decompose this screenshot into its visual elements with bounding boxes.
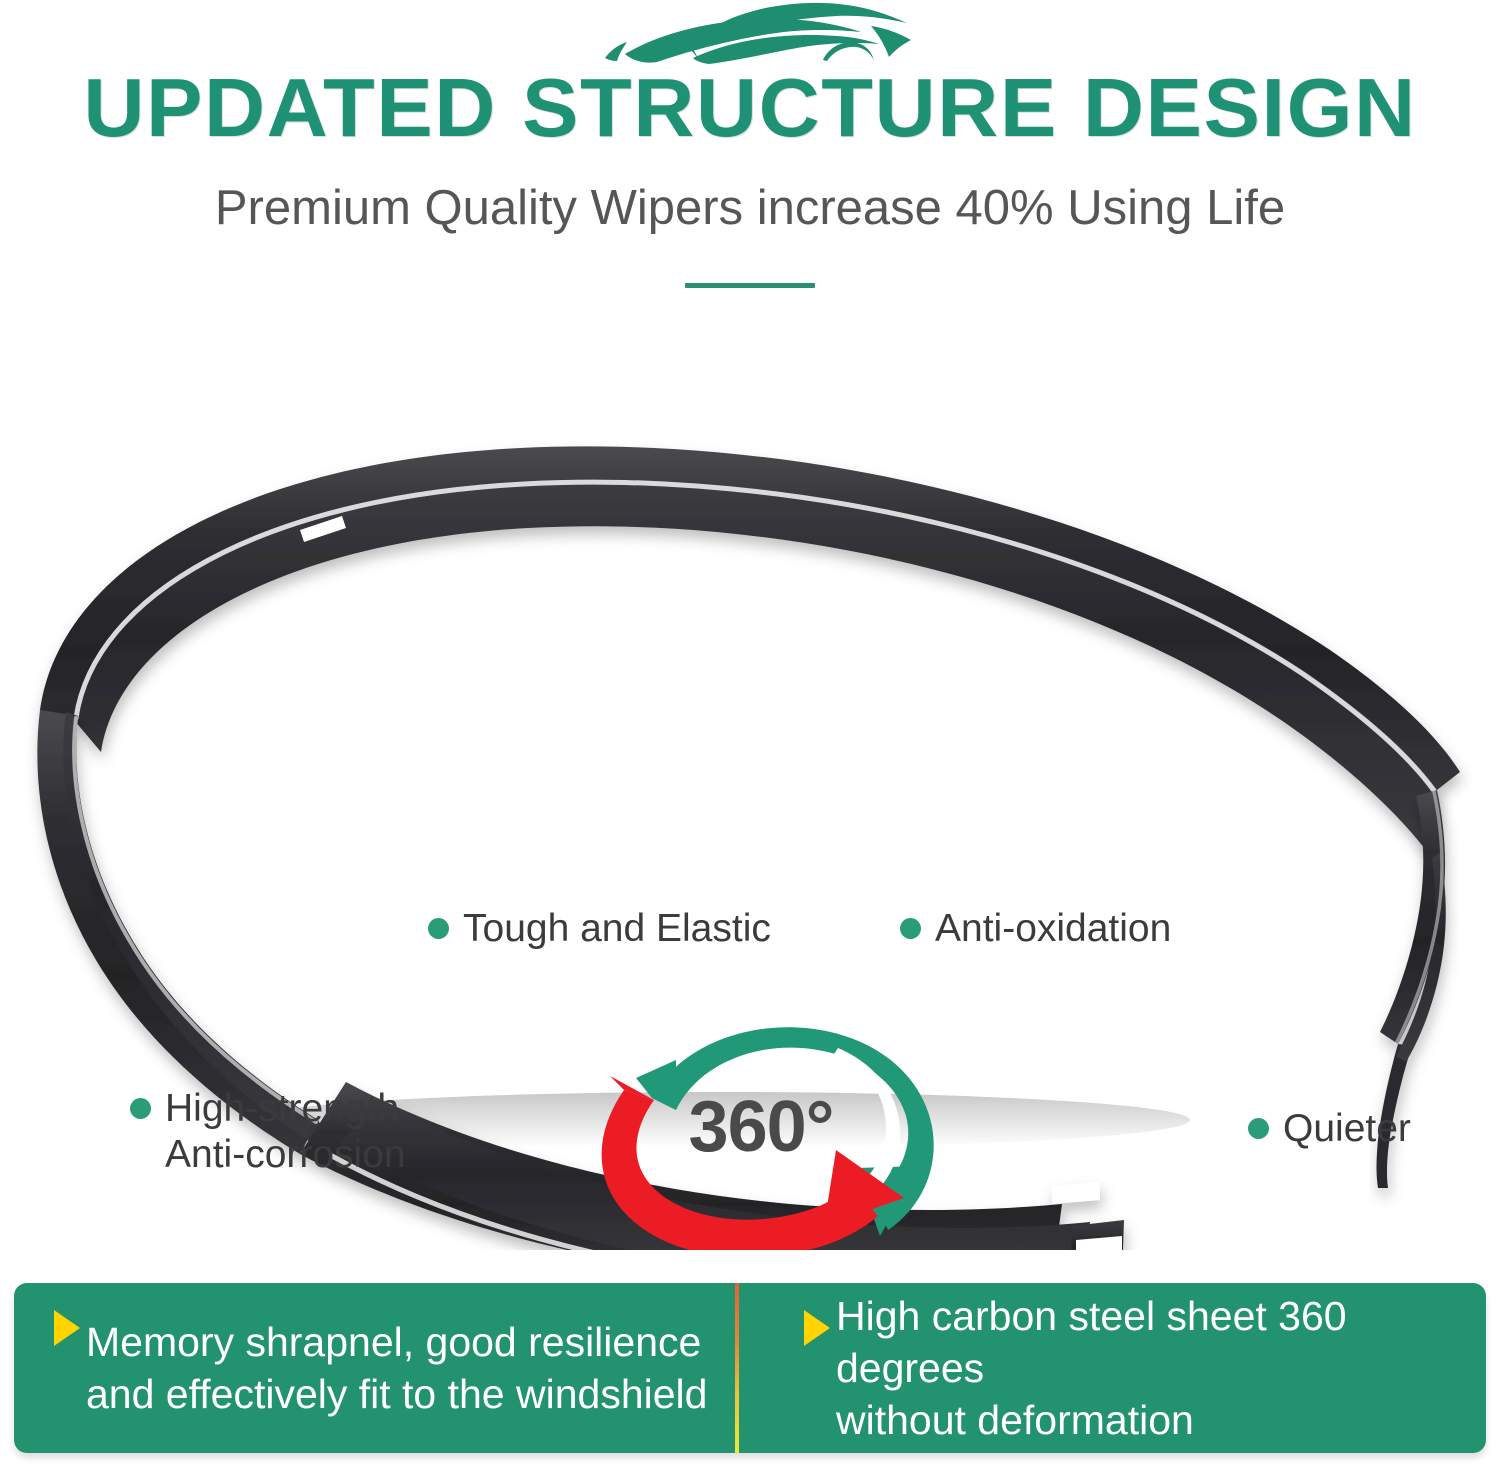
rotation-360-badge: 360°	[580, 1020, 950, 1250]
footer-panel-text: High carbon steel sheet 360 degrees with…	[836, 1290, 1486, 1446]
bullet-dot-icon	[1248, 1118, 1269, 1139]
triangle-bullet-icon	[804, 1310, 830, 1346]
callout-high-strength-anti-corrosion: High-strength Anti-corrosion	[130, 1086, 406, 1178]
footer-panel-memory-shrapnel: Memory shrapnel, good resilience and eff…	[14, 1283, 735, 1453]
callout-tough-and-elastic: Tough and Elastic	[428, 906, 771, 952]
callout-quieter: Quieter	[1248, 1106, 1411, 1152]
callout-label: High-strength Anti-corrosion	[165, 1086, 406, 1178]
triangle-bullet-icon	[54, 1310, 80, 1346]
bullet-dot-icon	[900, 918, 921, 939]
rotation-arrows-icon	[580, 1020, 950, 1250]
callout-label: Anti-oxidation	[935, 906, 1171, 952]
feature-footer: Memory shrapnel, good resilience and eff…	[14, 1283, 1486, 1453]
bullet-dot-icon	[130, 1098, 151, 1119]
footer-panel-high-carbon-steel: High carbon steel sheet 360 degrees with…	[739, 1283, 1486, 1453]
callout-label: Tough and Elastic	[463, 906, 771, 952]
callout-label: Quieter	[1283, 1106, 1411, 1152]
page-subtitle: Premium Quality Wipers increase 40% Usin…	[0, 178, 1500, 238]
title-underline-rule	[685, 283, 815, 288]
brand-logo	[0, 2, 1500, 64]
bullet-dot-icon	[428, 918, 449, 939]
callout-anti-oxidation: Anti-oxidation	[900, 906, 1171, 952]
page-title: UPDATED STRUCTURE DESIGN	[0, 62, 1500, 154]
sports-car-silhouette-icon	[585, 2, 915, 64]
product-hero: Tough and Elastic Anti-oxidation High-st…	[0, 320, 1500, 1250]
footer-panel-text: Memory shrapnel, good resilience and eff…	[86, 1316, 707, 1420]
